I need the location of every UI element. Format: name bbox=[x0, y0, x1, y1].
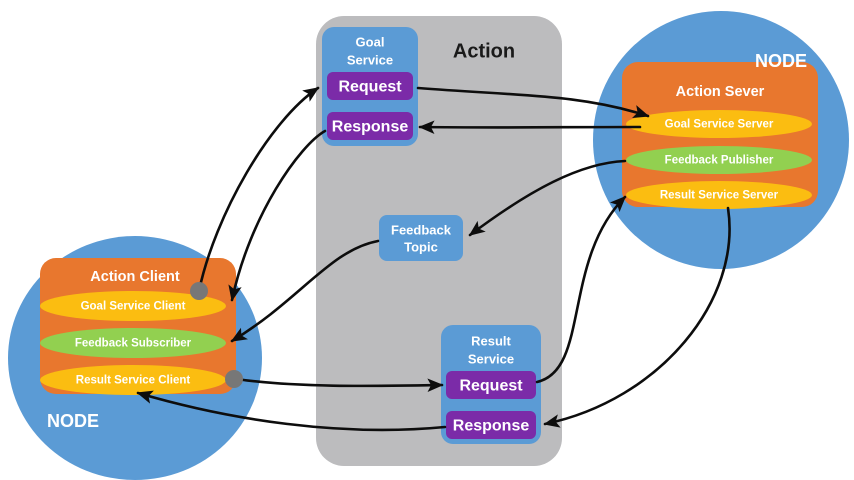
pill-feedback-publisher-label: Feedback Publisher bbox=[665, 155, 774, 167]
result-service-title-line2: Service bbox=[468, 351, 514, 366]
result-service-response-label: Response bbox=[453, 418, 530, 435]
client-node[interactable]: Action Client Goal Service Client Feedba… bbox=[8, 236, 262, 480]
pill-goal-service-client-label: Goal Service Client bbox=[81, 301, 186, 313]
result-service-title-line1: Result bbox=[471, 333, 511, 348]
diagram-canvas: Action Action Client Goal Service Client… bbox=[0, 0, 854, 480]
pill-result-service-server-label: Result Service Server bbox=[660, 190, 779, 202]
action-panel-label: Action bbox=[453, 40, 515, 62]
server-node-label: NODE bbox=[755, 51, 807, 71]
feedback-topic-title-line2: Topic bbox=[404, 239, 438, 254]
result-service-box[interactable]: Result Service Request Response bbox=[441, 325, 541, 444]
action-architecture-diagram: Action Action Client Goal Service Client… bbox=[0, 0, 854, 480]
client-node-label: NODE bbox=[47, 411, 99, 431]
server-node[interactable]: Action Sever Goal Service Server Feedbac… bbox=[593, 11, 849, 269]
goal-service-request-label: Request bbox=[338, 79, 402, 96]
feedback-topic-title-line1: Feedback bbox=[391, 222, 452, 237]
connector-dot-goal-client bbox=[190, 282, 208, 300]
feedback-topic-box[interactable]: Feedback Topic bbox=[379, 215, 463, 261]
pill-result-service-client-label: Result Service Client bbox=[76, 375, 191, 387]
goal-service-response-label: Response bbox=[332, 119, 409, 136]
action-client-label: Action Client bbox=[90, 269, 180, 285]
action-server-label: Action Sever bbox=[676, 84, 765, 100]
pill-goal-service-server-label: Goal Service Server bbox=[665, 119, 774, 131]
edge-goal-response-to-client bbox=[232, 131, 325, 300]
goal-service-title-line1: Goal bbox=[356, 34, 385, 49]
result-service-request-label: Request bbox=[459, 378, 523, 395]
pill-feedback-subscriber-label: Feedback Subscriber bbox=[75, 338, 192, 350]
goal-service-box[interactable]: Goal Service Request Response bbox=[322, 27, 418, 146]
connector-dot-result-client bbox=[225, 370, 243, 388]
goal-service-title-line2: Service bbox=[347, 52, 393, 67]
